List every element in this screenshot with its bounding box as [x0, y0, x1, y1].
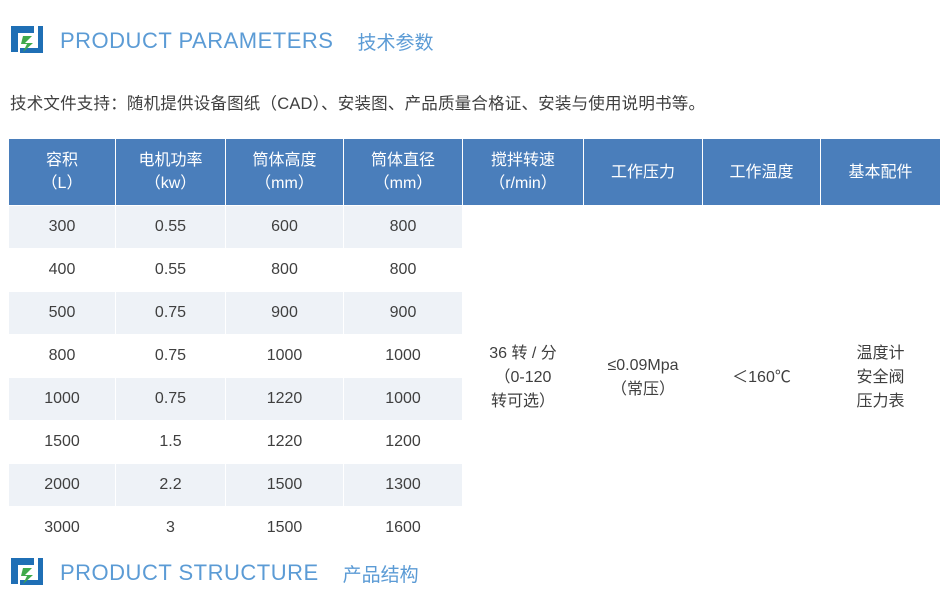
cell-height: 1500	[226, 507, 344, 550]
cell-volume: 800	[9, 335, 116, 378]
cell-diameter: 1000	[344, 335, 463, 378]
cell-height: 1000	[226, 335, 344, 378]
cell-power: 0.75	[116, 292, 226, 335]
cell-height: 1500	[226, 464, 344, 507]
cell-height: 600	[226, 206, 344, 249]
cell-volume: 300	[9, 206, 116, 249]
table-row: 300 0.55 600 800 36 转 / 分 （0-120 转可选） ≤0…	[9, 206, 941, 249]
cell-diameter: 900	[344, 292, 463, 335]
cell-height: 900	[226, 292, 344, 335]
parameters-table-wrapper: 容积 （L） 电机功率 （kw） 筒体高度 （mm） 筒体直径 （mm）	[8, 138, 940, 550]
cell-power: 0.75	[116, 335, 226, 378]
cell-basic-accessories: 温度计 安全阀 压力表	[821, 206, 941, 550]
cell-working-pressure: ≤0.09Mpa （常压）	[584, 206, 703, 550]
cell-working-temperature: ＜160℃	[703, 206, 821, 550]
cell-volume: 1500	[9, 421, 116, 464]
cell-power: 0.55	[116, 249, 226, 292]
cell-volume: 400	[9, 249, 116, 292]
parameters-table: 容积 （L） 电机功率 （kw） 筒体高度 （mm） 筒体直径 （mm）	[8, 138, 941, 550]
cell-diameter: 1200	[344, 421, 463, 464]
cell-diameter: 800	[344, 206, 463, 249]
cell-power: 2.2	[116, 464, 226, 507]
header-working-pressure: 工作压力	[584, 139, 703, 206]
section-header-product-parameters: PRODUCT PARAMETERS 技术参数	[8, 22, 433, 60]
table-header-row: 容积 （L） 电机功率 （kw） 筒体高度 （mm） 筒体直径 （mm）	[9, 139, 941, 206]
cell-diameter: 1300	[344, 464, 463, 507]
section-title-cn: 技术参数	[357, 28, 433, 55]
cell-power: 1.5	[116, 421, 226, 464]
cell-volume: 3000	[9, 507, 116, 550]
product-structure-icon	[8, 554, 46, 592]
header-volume: 容积 （L）	[9, 139, 116, 206]
section-header-product-structure: PRODUCT STRUCTURE 产品结构	[8, 554, 419, 592]
cell-volume: 2000	[9, 464, 116, 507]
header-motor-power: 电机功率 （kw）	[116, 139, 226, 206]
cell-volume: 500	[9, 292, 116, 335]
section-title-en: PRODUCT STRUCTURE	[60, 560, 319, 586]
header-barrel-diameter: 筒体直径 （mm）	[344, 139, 463, 206]
cell-volume: 1000	[9, 378, 116, 421]
header-basic-accessories: 基本配件	[821, 139, 941, 206]
header-working-temperature: 工作温度	[703, 139, 821, 206]
section-title-en: PRODUCT PARAMETERS	[60, 28, 333, 54]
product-parameters-icon	[8, 22, 46, 60]
section-title-cn: 产品结构	[343, 560, 419, 587]
header-stirring-speed: 搅拌转速 （r/min）	[463, 139, 584, 206]
cell-power: 0.55	[116, 206, 226, 249]
cell-diameter: 1000	[344, 378, 463, 421]
header-barrel-height: 筒体高度 （mm）	[226, 139, 344, 206]
cell-height: 800	[226, 249, 344, 292]
cell-diameter: 800	[344, 249, 463, 292]
cell-power: 3	[116, 507, 226, 550]
page-root: PRODUCT PARAMETERS 技术参数 技术文件支持：随机提供设备图纸（…	[0, 0, 950, 601]
cell-height: 1220	[226, 378, 344, 421]
technical-docs-note: 技术文件支持：随机提供设备图纸（CAD）、安装图、产品质量合格证、安装与使用说明…	[10, 90, 705, 114]
cell-power: 0.75	[116, 378, 226, 421]
cell-stirring-speed: 36 转 / 分 （0-120 转可选）	[463, 206, 584, 550]
cell-diameter: 1600	[344, 507, 463, 550]
cell-height: 1220	[226, 421, 344, 464]
